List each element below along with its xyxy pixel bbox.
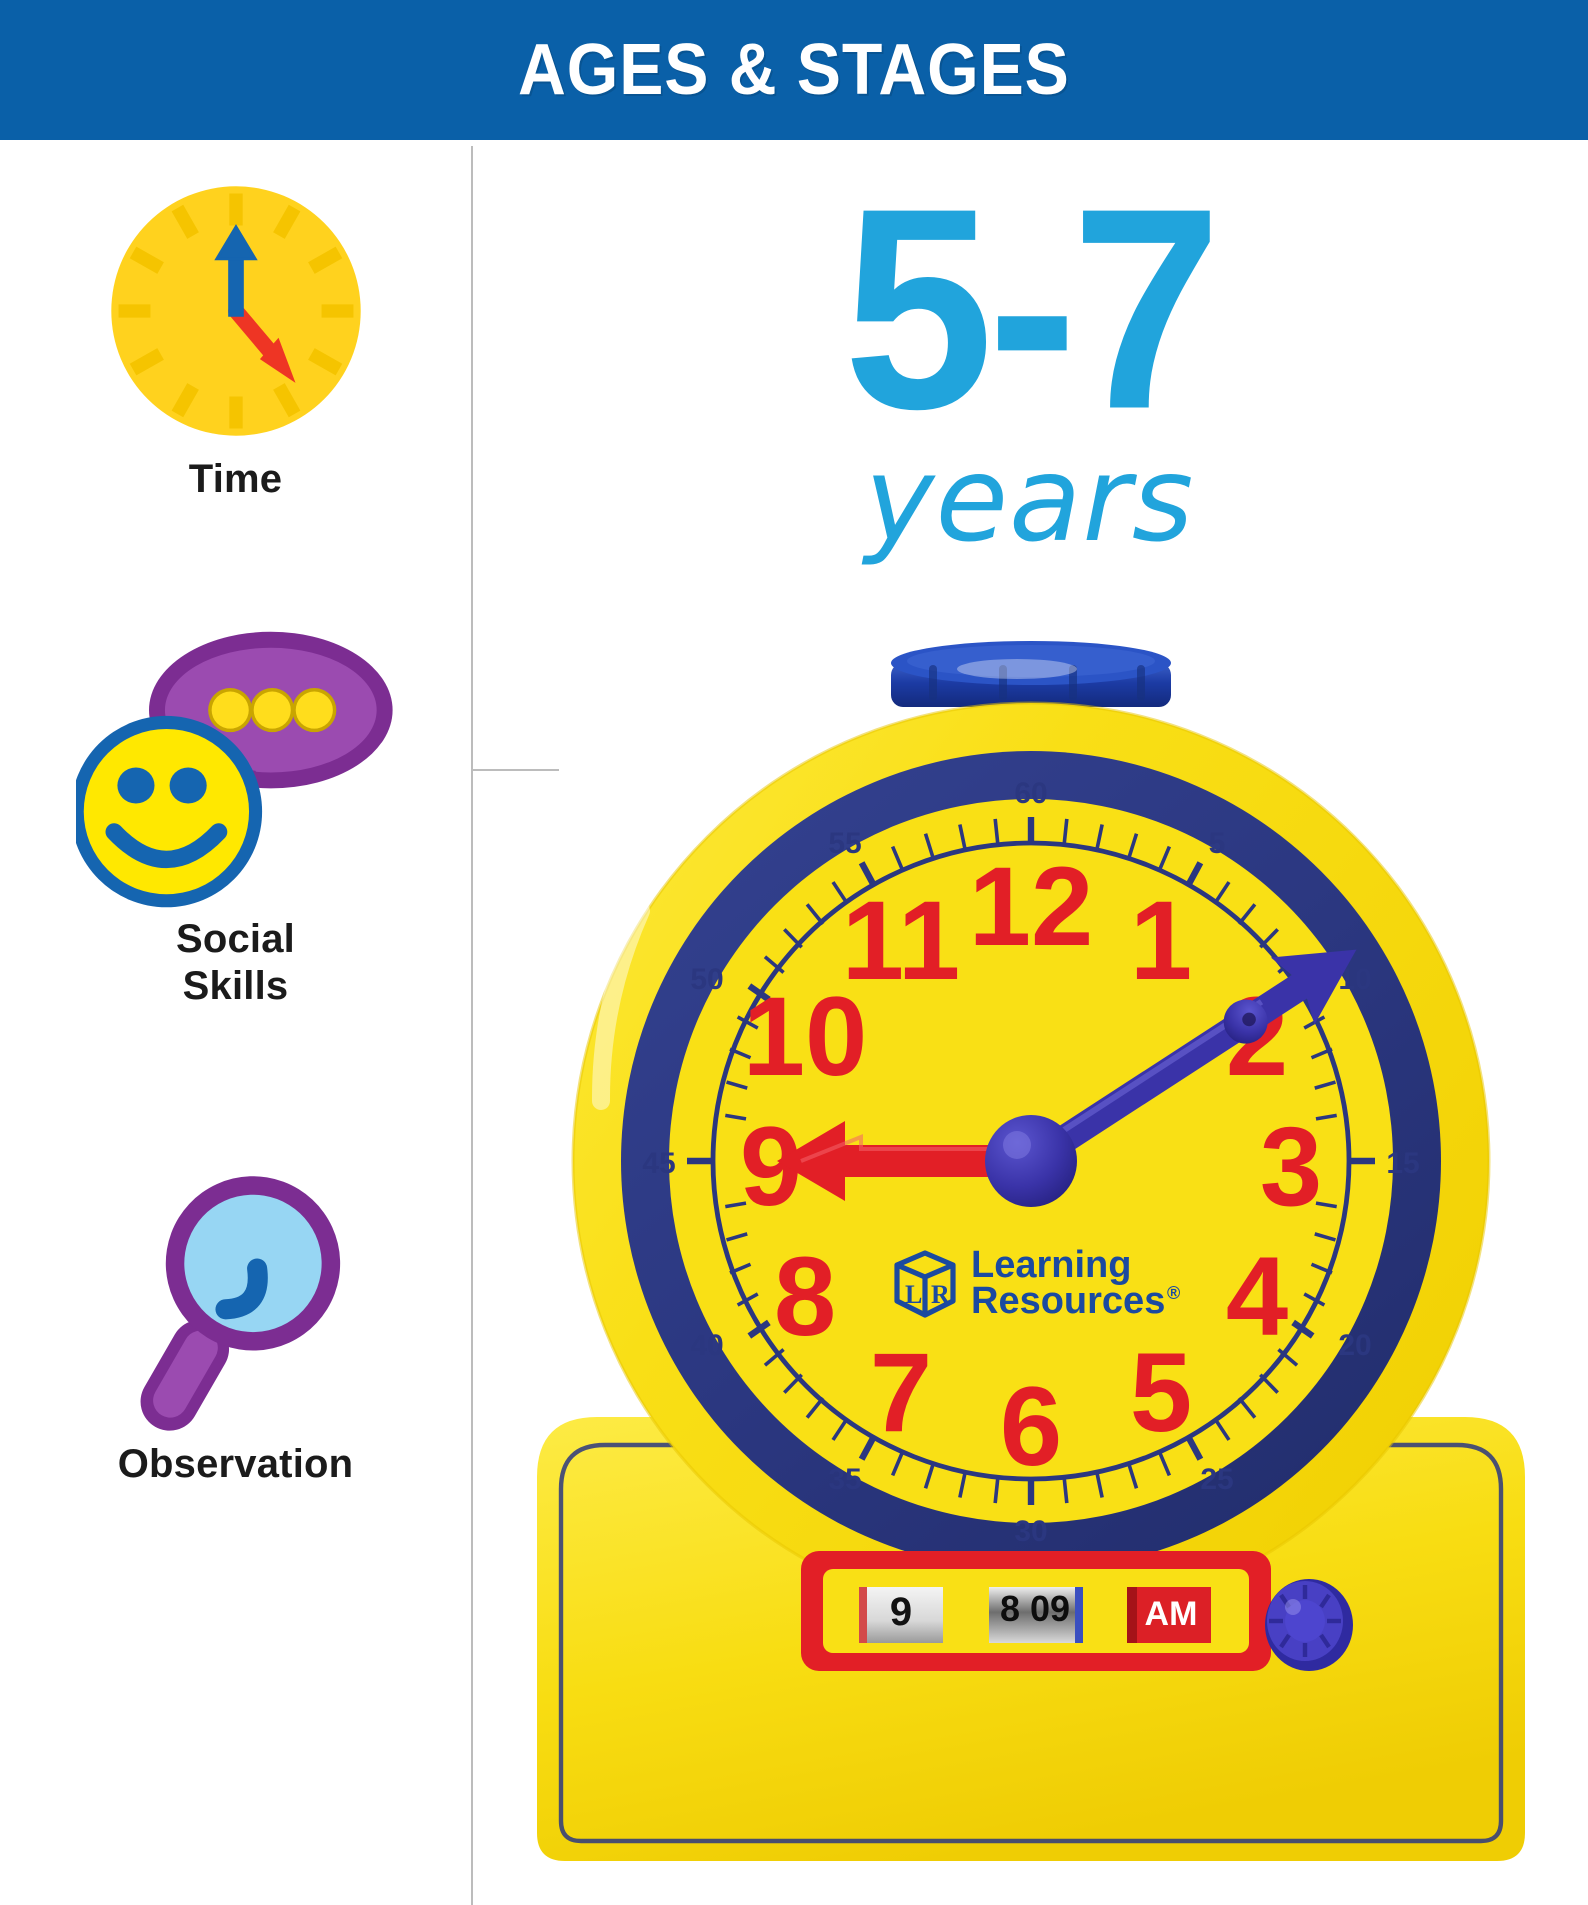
hour-number-3: 3 [1260,1104,1322,1229]
minute-number-25: 25 [1200,1463,1233,1496]
hour-number-12: 12 [969,844,1094,969]
clock-side-knob[interactable] [1265,1579,1353,1671]
feature-label-observation: Observation [0,1441,471,1488]
magnifying-glass-icon [103,1161,368,1441]
features-column: Time [0,146,471,1905]
display-minute-value: 8 09 [1000,1588,1070,1629]
social-skills-line-2: Skills [0,963,471,1010]
feature-label-time: Time [0,456,471,503]
minute-number-5: 5 [1209,827,1226,860]
brand-registered-mark: ® [1167,1283,1180,1303]
student-clock-illustration: 60 5 10 15 20 25 30 35 40 45 50 55 12 1 [501,641,1561,1905]
header-banner: AGES & STAGES [0,0,1588,140]
page-title: AGES & STAGES [518,29,1070,111]
display-hour-window: 9 [859,1587,943,1643]
hour-number-6: 6 [1000,1364,1062,1489]
svg-text:R: R [931,1280,950,1309]
ages-and-stages-infographic: AGES & STAGES [0,0,1588,1905]
hour-number-8: 8 [774,1234,836,1359]
hour-number-1: 1 [1130,878,1192,1003]
minute-number-45: 45 [642,1147,675,1180]
minute-number-20: 20 [1338,1329,1371,1362]
hour-number-5: 5 [1130,1330,1192,1455]
display-meridiem-window: AM [1127,1587,1211,1643]
clock-icon [91,166,381,456]
hour-number-7: 7 [870,1330,932,1455]
social-skills-line-1: Social [0,916,471,963]
feature-observation: Observation [0,1161,471,1488]
minute-number-40: 40 [690,1329,723,1362]
display-hour-value: 9 [890,1590,912,1634]
minute-number-50: 50 [690,963,723,996]
smiley-face-icon [76,716,262,907]
minute-number-55: 55 [828,827,861,860]
clock-top-knob [891,641,1171,709]
hour-number-11: 11 [842,878,960,1003]
smiley-speech-icon [76,626,396,916]
feature-social-skills: Social Skills [0,626,471,1010]
minute-number-30: 30 [1014,1515,1047,1548]
brand-line-2: Resources [971,1280,1165,1322]
age-range: 5-7 [471,179,1588,442]
minute-number-35: 35 [828,1463,861,1496]
svg-text:L: L [905,1280,922,1309]
minute-number-60: 60 [1014,777,1047,810]
feature-time: Time [0,166,471,503]
product-image: 60 5 10 15 20 25 30 35 40 45 50 55 12 1 [501,641,1561,1905]
display-minute-window: 8 09 [989,1587,1083,1643]
display-meridiem-value: AM [1145,1595,1198,1633]
clock-center-hub [985,1115,1077,1207]
feature-label-social-skills: Social Skills [0,916,471,1010]
age-block: 5-7 years [471,186,1588,558]
minute-number-15: 15 [1386,1147,1419,1180]
digital-display: 9 8 09 AM [801,1551,1271,1671]
product-column: 5-7 years [471,146,1588,1905]
hour-number-4: 4 [1226,1234,1288,1359]
